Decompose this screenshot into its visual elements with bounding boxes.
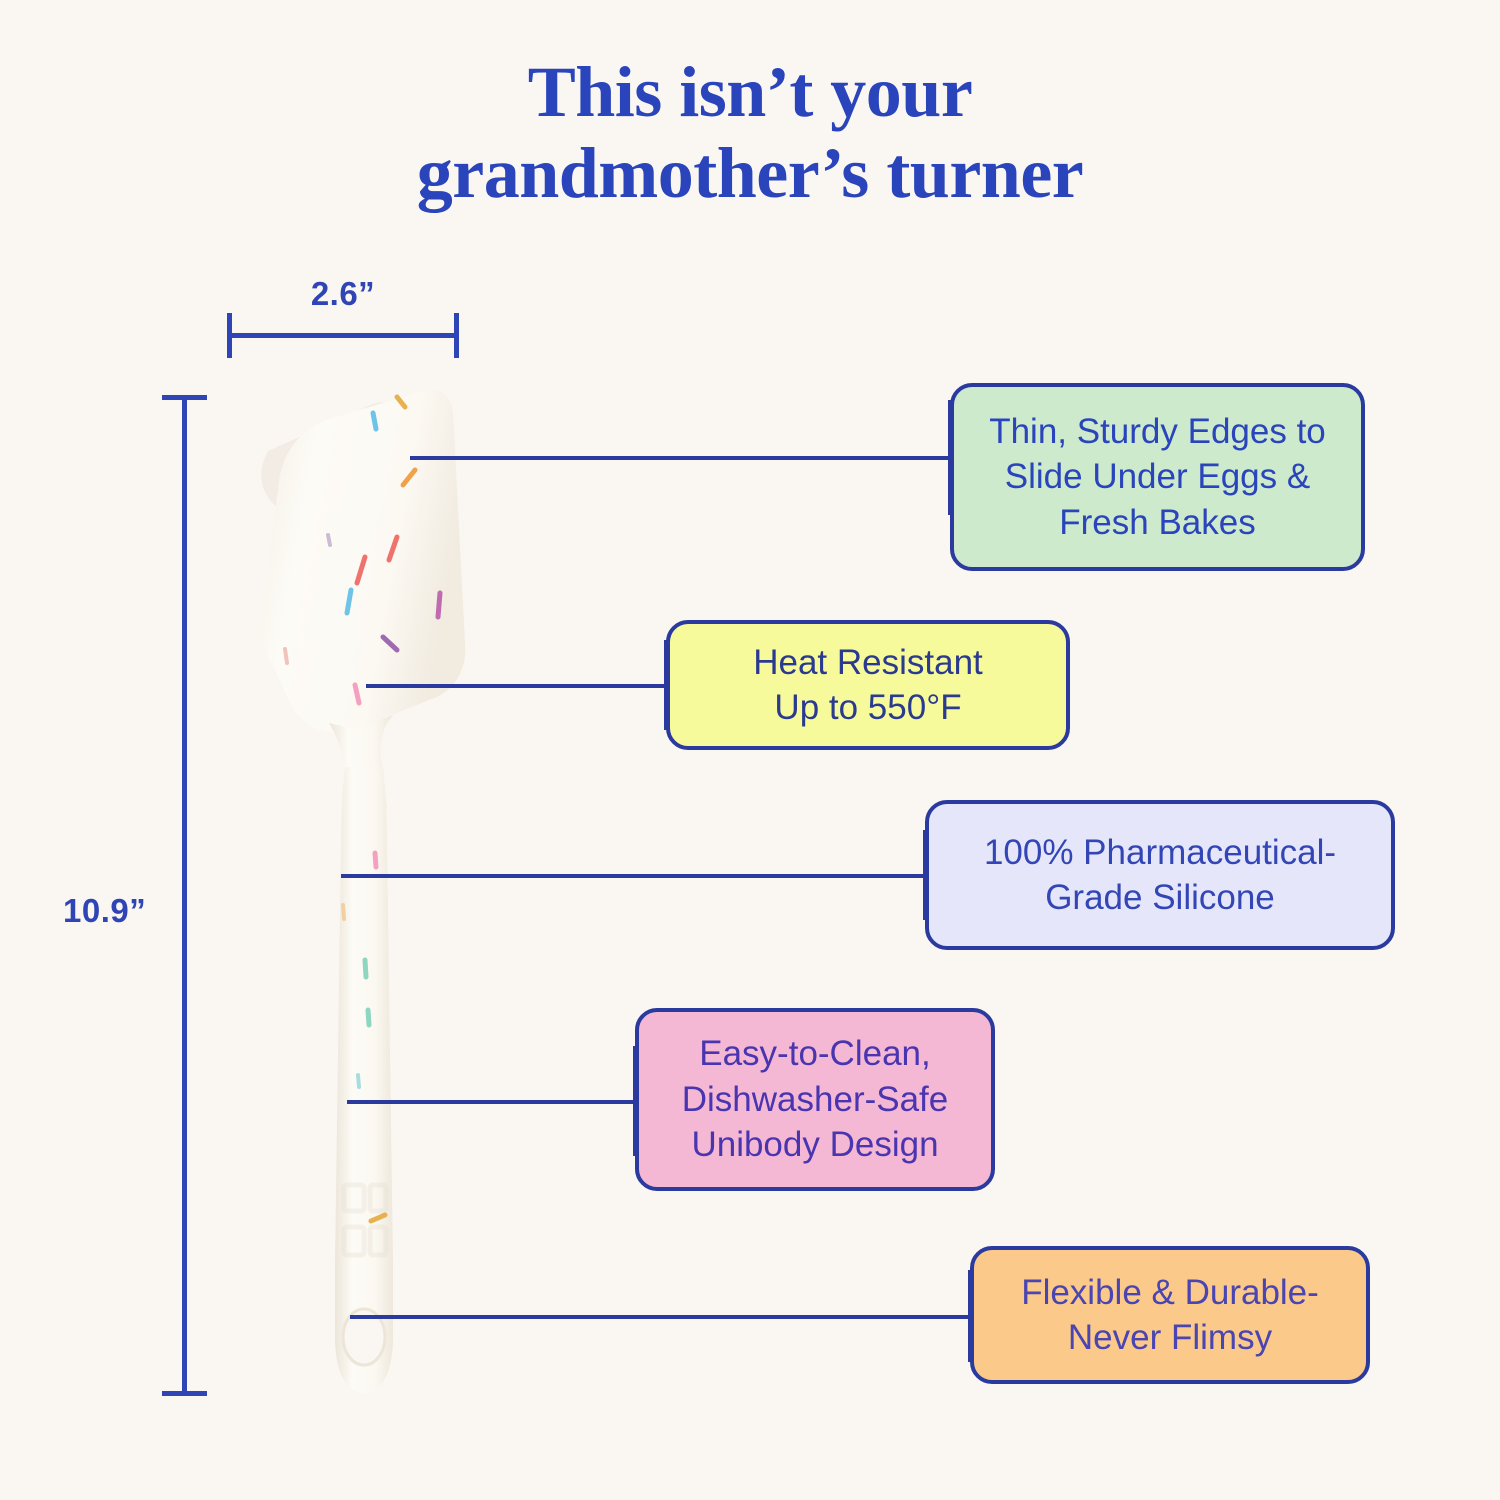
callout-pharmaceutical-grade-silicone[interactable]: 100% Pharmaceutical- Grade Silicone — [925, 800, 1395, 950]
callout-text-pharmaceutical-grade-silicone: 100% Pharmaceutical- Grade Silicone — [984, 830, 1336, 921]
height-dimension-cap-bottom — [162, 1391, 207, 1396]
page-title: This isn’t your grandmother’s turner — [0, 52, 1500, 215]
width-dimension-line — [227, 333, 459, 338]
callout-flexible-durable[interactable]: Flexible & Durable- Never Flimsy — [970, 1246, 1370, 1384]
height-dimension-line — [182, 395, 187, 1395]
callout-heat-resistant[interactable]: Heat Resistant Up to 550°F — [666, 620, 1070, 750]
leader-line-heat-resistant — [366, 684, 668, 688]
width-dimension-cap-right — [454, 313, 459, 358]
width-dimension-cap-left — [227, 313, 232, 358]
infographic-canvas: This isn’t your grandmother’s turner 2.6… — [0, 0, 1500, 1500]
width-dimension-label: 2.6” — [227, 275, 459, 313]
leader-line-flexible-durable — [350, 1315, 972, 1319]
callout-text-flexible-durable: Flexible & Durable- Never Flimsy — [1021, 1270, 1319, 1361]
leader-line-thin-sturdy-edges — [410, 456, 952, 460]
height-dimension-cap-top — [162, 395, 207, 400]
callout-text-heat-resistant: Heat Resistant Up to 550°F — [753, 640, 983, 731]
leader-line-easy-to-clean — [347, 1100, 637, 1104]
callout-text-easy-to-clean: Easy-to-Clean, Dishwasher-Safe Unibody D… — [682, 1031, 949, 1168]
silicone-turner-spatula-image — [225, 385, 485, 1405]
leader-line-pharmaceutical-grade-silicone — [341, 874, 927, 878]
height-dimension-label: 10.9” — [63, 892, 146, 930]
callout-thin-sturdy-edges[interactable]: Thin, Sturdy Edges to Slide Under Eggs &… — [950, 383, 1365, 571]
callout-easy-to-clean[interactable]: Easy-to-Clean, Dishwasher-Safe Unibody D… — [635, 1008, 995, 1191]
callout-text-thin-sturdy-edges: Thin, Sturdy Edges to Slide Under Eggs &… — [989, 409, 1326, 546]
